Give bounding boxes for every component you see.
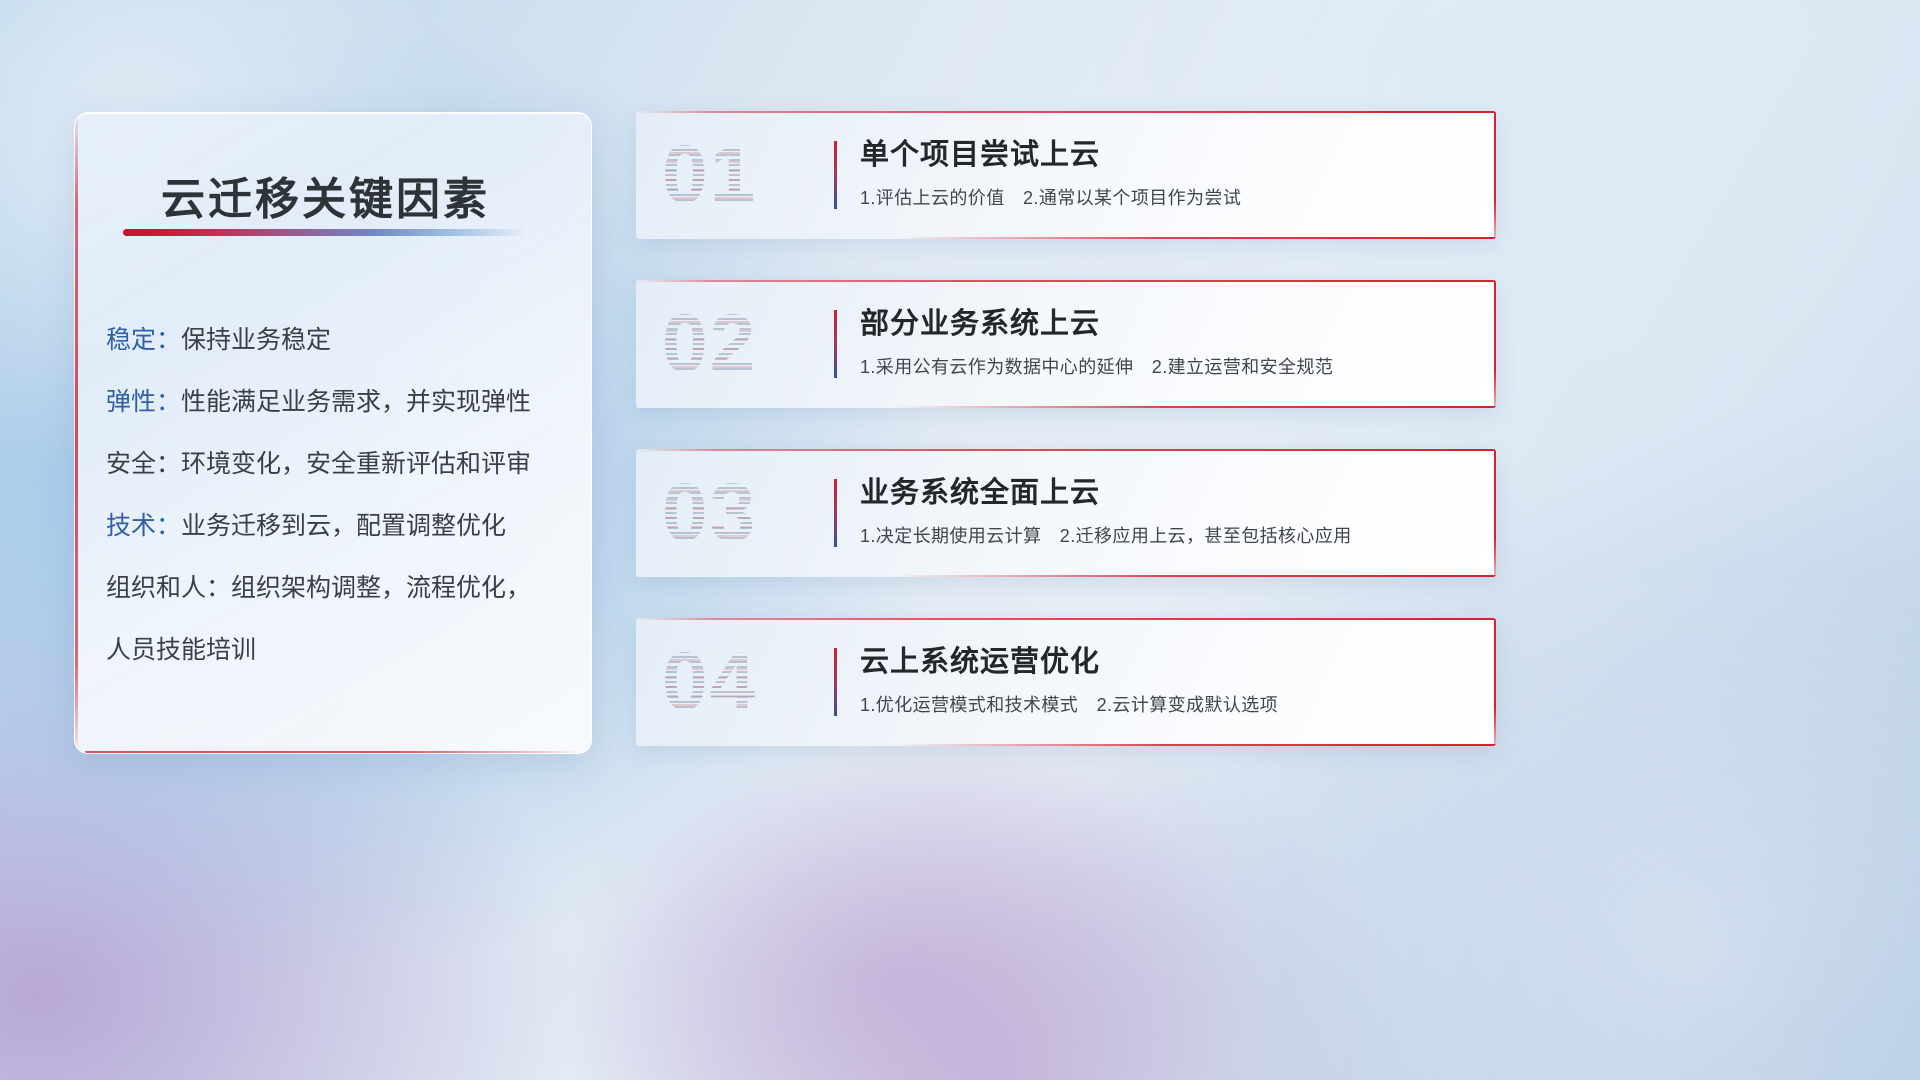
- card-description: 1.优化运营模式和技术模式 2.云计算变成默认选项: [860, 692, 1472, 718]
- card-title: 云上系统运营优化: [860, 642, 1472, 682]
- stage-card[interactable]: 04 04 云上系统运营优化 1.优化运营模式和技术模式 2.云计算变成默认选项: [636, 618, 1496, 746]
- list-item-text: 人员技能培训: [106, 636, 256, 664]
- card-divider-bar: [834, 648, 837, 716]
- card-description: 1.采用公有云作为数据中心的延伸 2.建立运营和安全规范: [860, 354, 1472, 380]
- card-accent-bottom: [894, 575, 1496, 577]
- card-accent-bottom: [894, 406, 1496, 408]
- card-description: 1.评估上云的价值 2.通常以某个项目作为尝试: [860, 185, 1472, 211]
- list-item-text: 性能满足业务需求，并实现弹性: [181, 388, 531, 416]
- stage-number-ghost: 03: [662, 472, 757, 554]
- stage-card-list: 01 01 单个项目尝试上云 1.评估上云的价值 2.通常以某个项目作为尝试 0…: [636, 111, 1496, 787]
- list-item: 安全：环境变化，安全重新评估和评审: [106, 433, 573, 495]
- list-item-key: 技术：: [106, 512, 181, 540]
- card-body: 业务系统全面上云 1.决定长期使用云计算 2.迁移应用上云，甚至包括核心应用: [860, 473, 1472, 549]
- stage-number-ghost: 04: [662, 641, 757, 723]
- card-title: 部分业务系统上云: [860, 304, 1472, 344]
- key-factors-list: 稳定：保持业务稳定 弹性：性能满足业务需求，并实现弹性 安全：环境变化，安全重新…: [106, 309, 573, 681]
- list-item-key: 安全：: [106, 450, 181, 478]
- card-divider-bar: [834, 141, 837, 209]
- list-item: 组织和人：组织架构调整，流程优化，: [106, 557, 573, 619]
- card-divider-bar: [834, 479, 837, 547]
- list-item-continuation: 人员技能培训: [106, 619, 573, 681]
- card-body: 云上系统运营优化 1.优化运营模式和技术模式 2.云计算变成默认选项: [860, 642, 1472, 718]
- list-item-text: 组织架构调整，流程优化，: [231, 574, 531, 602]
- list-item: 稳定：保持业务稳定: [106, 309, 573, 371]
- list-item: 技术：业务迁移到云，配置调整优化: [106, 495, 573, 557]
- card-body: 部分业务系统上云 1.采用公有云作为数据中心的延伸 2.建立运营和安全规范: [860, 304, 1472, 380]
- stage-card[interactable]: 03 03 业务系统全面上云 1.决定长期使用云计算 2.迁移应用上云，甚至包括…: [636, 449, 1496, 577]
- card-description: 1.决定长期使用云计算 2.迁移应用上云，甚至包括核心应用: [860, 523, 1472, 549]
- page-title: 云迁移关键因素: [161, 163, 490, 227]
- card-title: 业务系统全面上云: [860, 473, 1472, 513]
- key-factors-panel: 云迁移关键因素 稳定：保持业务稳定 弹性：性能满足业务需求，并实现弹性 安全：环…: [74, 112, 592, 754]
- stage-number-ghost: 01: [662, 134, 757, 216]
- list-item: 弹性：性能满足业务需求，并实现弹性: [106, 371, 573, 433]
- stage-card[interactable]: 01 01 单个项目尝试上云 1.评估上云的价值 2.通常以某个项目作为尝试: [636, 111, 1496, 239]
- stage-number-ghost: 02: [662, 303, 757, 385]
- panel-accent-bottom: [85, 751, 581, 754]
- list-item-key: 稳定：: [106, 326, 181, 354]
- card-body: 单个项目尝试上云 1.评估上云的价值 2.通常以某个项目作为尝试: [860, 135, 1472, 211]
- card-title: 单个项目尝试上云: [860, 135, 1472, 175]
- card-accent-bottom: [894, 744, 1496, 746]
- list-item-text: 业务迁移到云，配置调整优化: [181, 512, 506, 540]
- stage-card[interactable]: 02 02 部分业务系统上云 1.采用公有云作为数据中心的延伸 2.建立运营和安…: [636, 280, 1496, 408]
- list-item-key: 组织和人：: [106, 574, 231, 602]
- list-item-text: 保持业务稳定: [181, 326, 331, 354]
- list-item-key: 弹性：: [106, 388, 181, 416]
- list-item-text: 环境变化，安全重新评估和评审: [181, 450, 531, 478]
- title-underline-gradient: [123, 229, 523, 236]
- card-accent-bottom: [894, 237, 1496, 239]
- card-divider-bar: [834, 310, 837, 378]
